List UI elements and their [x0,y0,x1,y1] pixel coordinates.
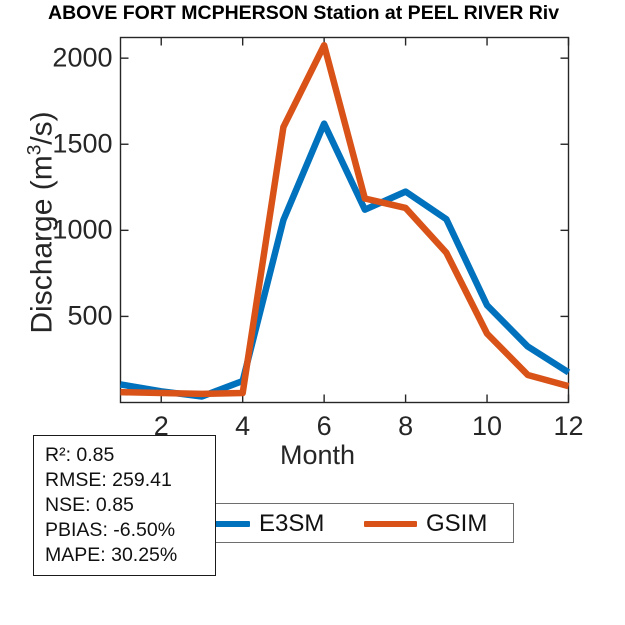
legend-swatch-gsim [364,521,417,527]
x-tick-label: 10 [457,411,517,442]
y-tick-label: 1500 [17,129,113,160]
stat-pbias: PBIAS: -6.50% [34,518,215,543]
matlab-figure: ABOVE FORT MCPHERSON Station at PEEL RIV… [0,0,625,625]
chart-legend[interactable]: E3SM GSIM [183,503,514,543]
x-tick-label: 4 [213,411,273,442]
legend-entry-gsim[interactable]: GSIM [364,504,487,544]
series-line-gsim [121,45,569,394]
stat-rmse: RMSE: 259.41 [34,468,215,493]
statistics-box: R²: 0.85 RMSE: 259.41 NSE: 0.85 PBIAS: -… [33,435,216,576]
stat-nse: NSE: 0.85 [34,493,215,518]
stat-r2: R²: 0.85 [34,443,215,468]
stat-mape: MAPE: 30.25% [34,543,215,568]
series-line-e3sm [121,124,569,397]
x-tick-label: 6 [294,411,354,442]
y-tick-label: 1000 [17,215,113,246]
x-tick-label: 12 [539,411,599,442]
x-tick-label: 8 [376,411,436,442]
legend-entry-e3sm[interactable]: E3SM [197,504,324,544]
y-tick-label: 2000 [17,43,113,74]
y-tick-label: 500 [17,301,113,332]
chart-title: ABOVE FORT MCPHERSON Station at PEEL RIV… [48,2,559,25]
legend-label-e3sm: E3SM [259,510,324,538]
x-axis-label: Month [280,440,355,471]
legend-label-gsim: GSIM [426,510,487,538]
